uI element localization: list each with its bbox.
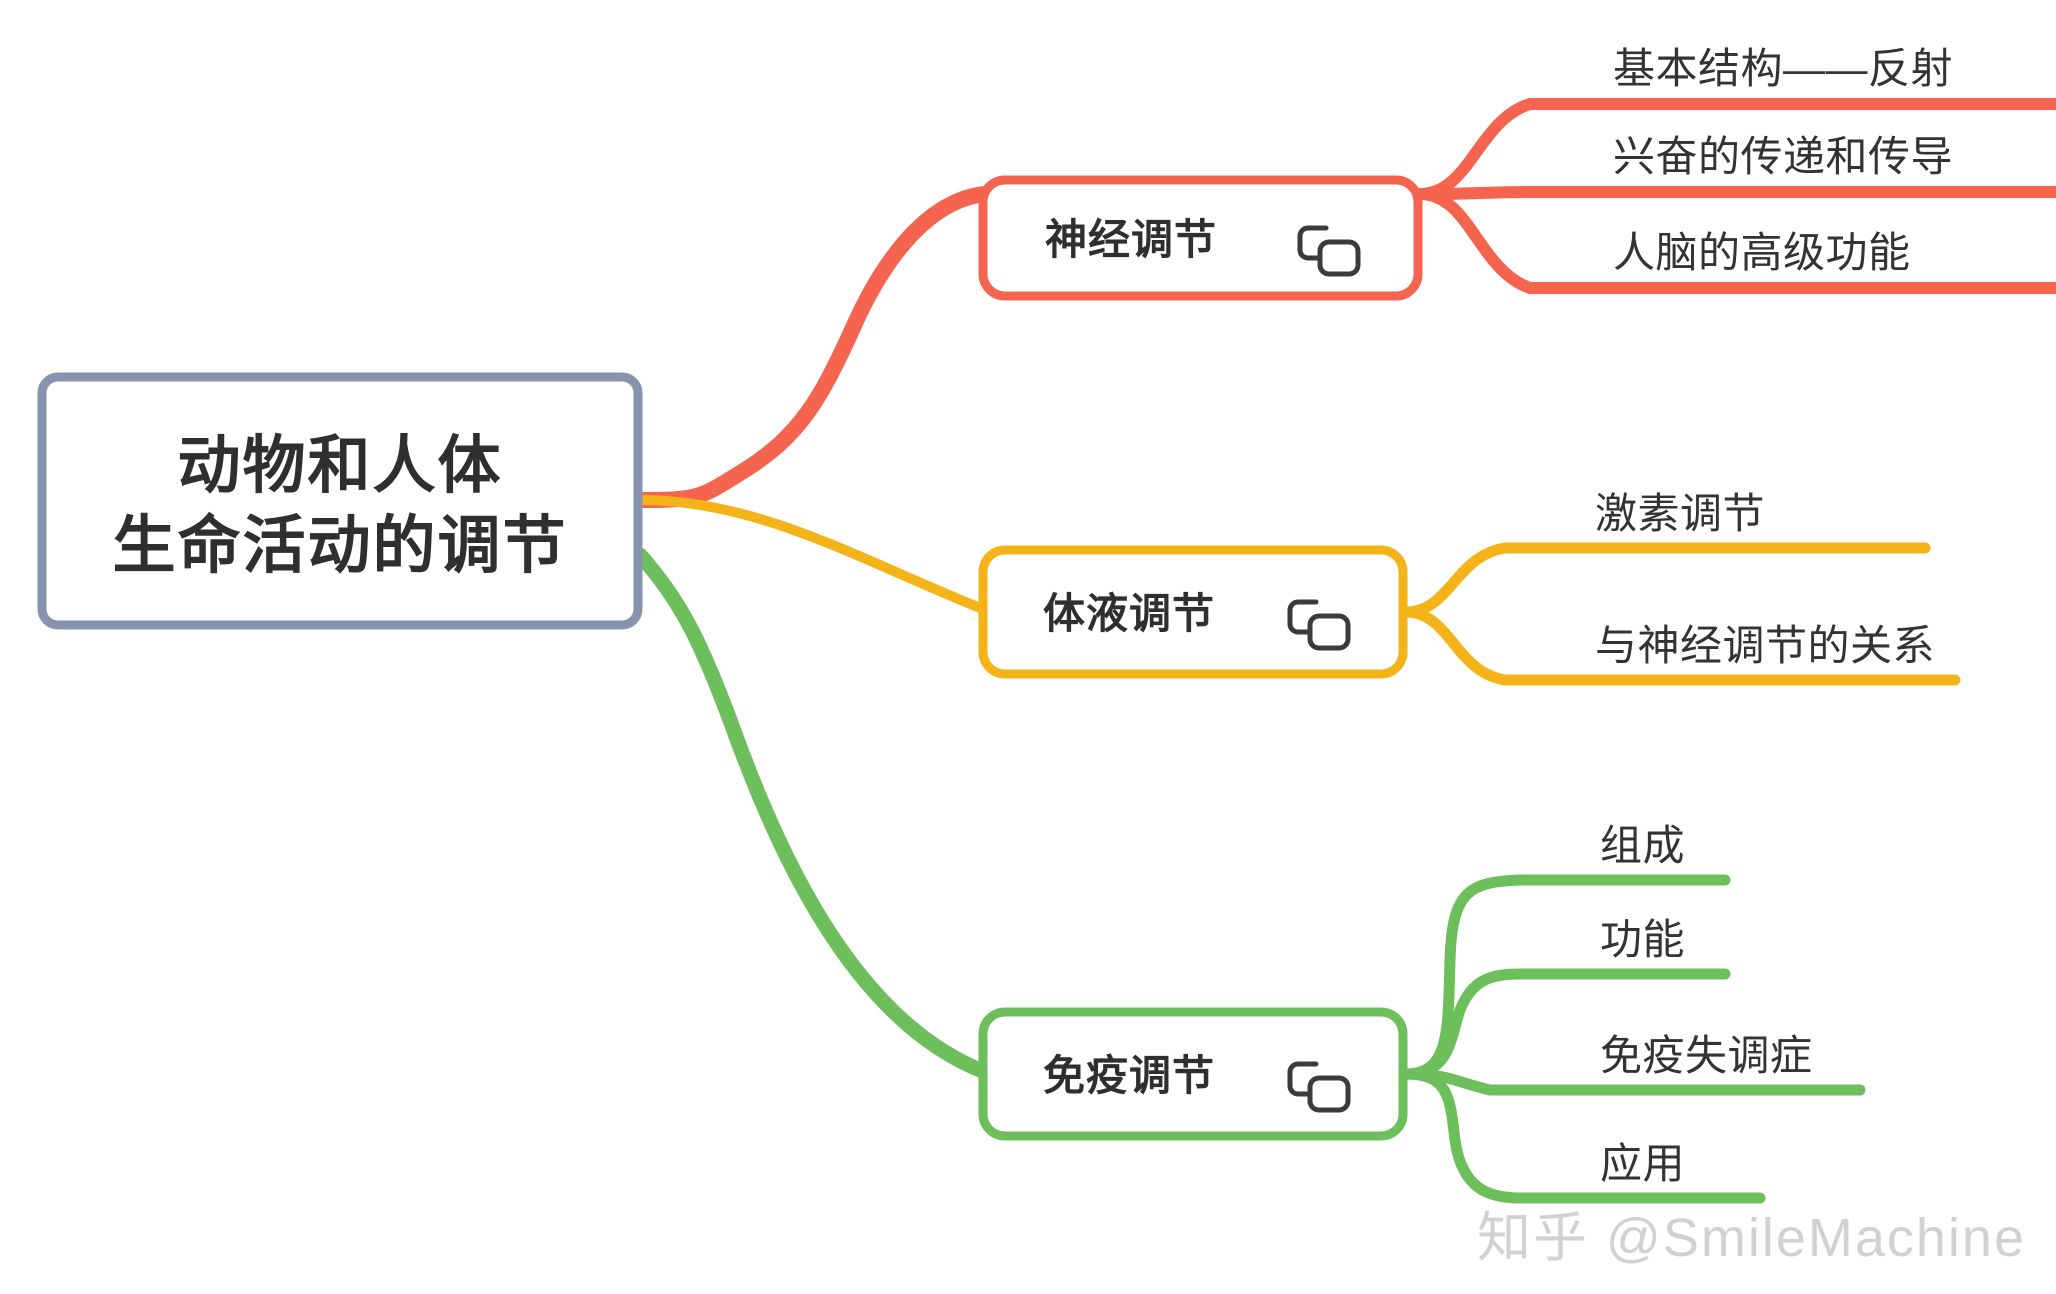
leaf-group-nerve: 基本结构——反射 兴奋的传递和传导 人脑的高级功能	[1613, 45, 1953, 276]
root-node-label-line2: 生命活动的调节	[113, 511, 568, 581]
root-node[interactable]: 动物和人体 生命活动的调节	[42, 377, 638, 625]
leaf-label[interactable]: 与神经调节的关系	[1595, 622, 1935, 669]
edge-root-to-humoral	[640, 500, 985, 610]
branch-node-humoral[interactable]: 体液调节	[983, 550, 1403, 674]
leaf-label[interactable]: 免疫失调症	[1600, 1032, 1813, 1079]
leaf-label[interactable]: 组成	[1600, 822, 1685, 869]
leaf-label[interactable]: 激素调节	[1595, 490, 1765, 537]
leaf-label[interactable]: 基本结构——反射	[1613, 45, 1953, 92]
leaf-label[interactable]: 兴奋的传递和传导	[1613, 133, 1953, 180]
root-node-label-line1: 动物和人体	[178, 431, 503, 501]
branch-node-immune[interactable]: 免疫调节	[983, 1012, 1403, 1136]
branch-node-immune-label: 免疫调节	[1043, 1052, 1215, 1099]
mindmap-canvas: 动物和人体 生命活动的调节 神经调节 体液调节 免疫调节 基本结构——反射 兴奋…	[0, 0, 2056, 1294]
leaf-label[interactable]: 功能	[1600, 916, 1685, 963]
edge-root-to-immune	[640, 555, 985, 1072]
edge-root-to-nerve	[640, 194, 985, 500]
root-node-box[interactable]	[42, 377, 638, 625]
branch-node-humoral-label: 体液调节	[1043, 590, 1215, 637]
branch-node-nerve[interactable]: 神经调节	[983, 180, 1418, 296]
leaf-label[interactable]: 应用	[1600, 1140, 1685, 1187]
leaf-group-humoral: 激素调节 与神经调节的关系	[1595, 490, 1935, 669]
branch-node-nerve-label: 神经调节	[1045, 216, 1217, 263]
leaf-label[interactable]: 人脑的高级功能	[1613, 229, 1911, 276]
